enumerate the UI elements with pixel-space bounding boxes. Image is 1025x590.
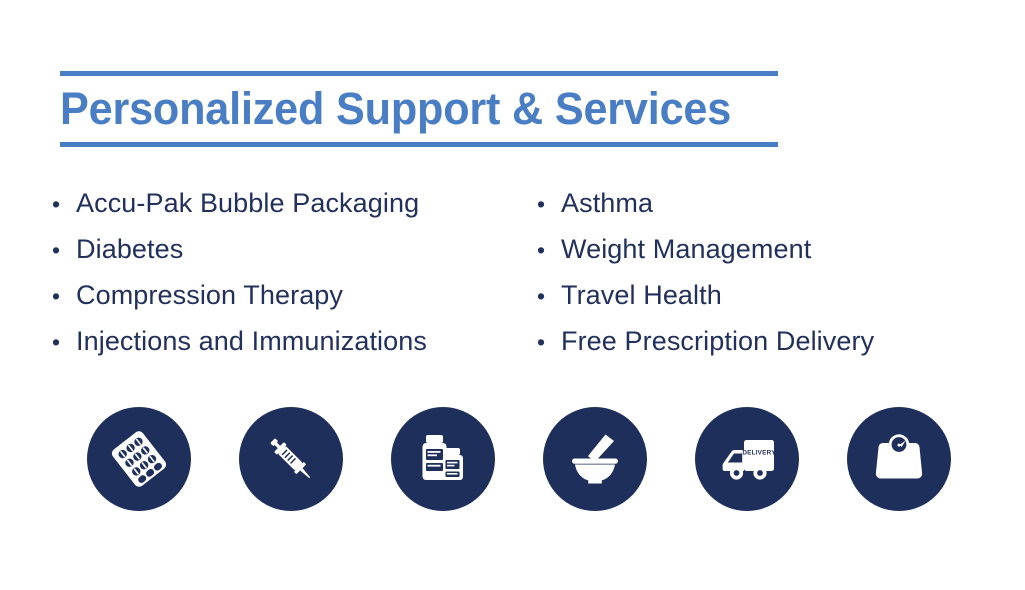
icon-badge-pill-bottles <box>391 407 495 511</box>
service-label: Compression Therapy <box>76 272 343 318</box>
title-rule-bottom <box>60 142 778 147</box>
bullet-icon: • <box>537 319 561 365</box>
service-label: Travel Health <box>561 272 722 318</box>
title-block: Personalized Support & Services <box>60 71 778 147</box>
service-label: Asthma <box>561 180 653 226</box>
syringe-icon <box>260 428 322 490</box>
service-label: Diabetes <box>76 226 183 272</box>
bullet-icon: • <box>52 181 76 227</box>
service-icon-row: DELIVERY <box>87 407 953 511</box>
list-item: • Compression Therapy <box>52 272 537 318</box>
page-title: Personalized Support & Services <box>60 76 749 142</box>
list-item: • Diabetes <box>52 226 537 272</box>
bullet-icon: • <box>52 273 76 319</box>
service-label: Accu-Pak Bubble Packaging <box>76 180 419 226</box>
weight-scale-icon <box>870 430 928 488</box>
service-label: Weight Management <box>561 226 811 272</box>
icon-badge-syringe <box>239 407 343 511</box>
delivery-truck-icon: DELIVERY <box>714 426 780 492</box>
slide-canvas: Personalized Support & Services • Accu-P… <box>0 0 1025 590</box>
list-item: • Injections and Immunizations <box>52 318 537 364</box>
list-item: • Travel Health <box>537 272 982 318</box>
bullet-icon: • <box>537 227 561 273</box>
bullet-icon: • <box>52 227 76 273</box>
blister-pack-icon <box>108 428 170 490</box>
bullet-icon: • <box>537 273 561 319</box>
list-item: • Accu-Pak Bubble Packaging <box>52 180 537 226</box>
list-item: • Free Prescription Delivery <box>537 318 982 364</box>
bullet-icon: • <box>537 181 561 227</box>
mortar-pestle-icon <box>564 428 626 490</box>
icon-badge-weight-scale <box>847 407 951 511</box>
services-columns: • Accu-Pak Bubble Packaging • Diabetes •… <box>52 180 982 364</box>
list-item: • Weight Management <box>537 226 982 272</box>
pill-bottles-icon <box>414 430 472 488</box>
delivery-truck-badge-text: DELIVERY <box>742 450 776 457</box>
icon-badge-mortar-pestle <box>543 407 647 511</box>
icon-badge-delivery-truck: DELIVERY <box>695 407 799 511</box>
services-column-right: • Asthma • Weight Management • Travel He… <box>537 180 982 364</box>
bullet-icon: • <box>52 319 76 365</box>
icon-badge-blister-pack <box>87 407 191 511</box>
service-label: Free Prescription Delivery <box>561 318 874 364</box>
services-column-left: • Accu-Pak Bubble Packaging • Diabetes •… <box>52 180 537 364</box>
service-label: Injections and Immunizations <box>76 318 427 364</box>
list-item: • Asthma <box>537 180 982 226</box>
